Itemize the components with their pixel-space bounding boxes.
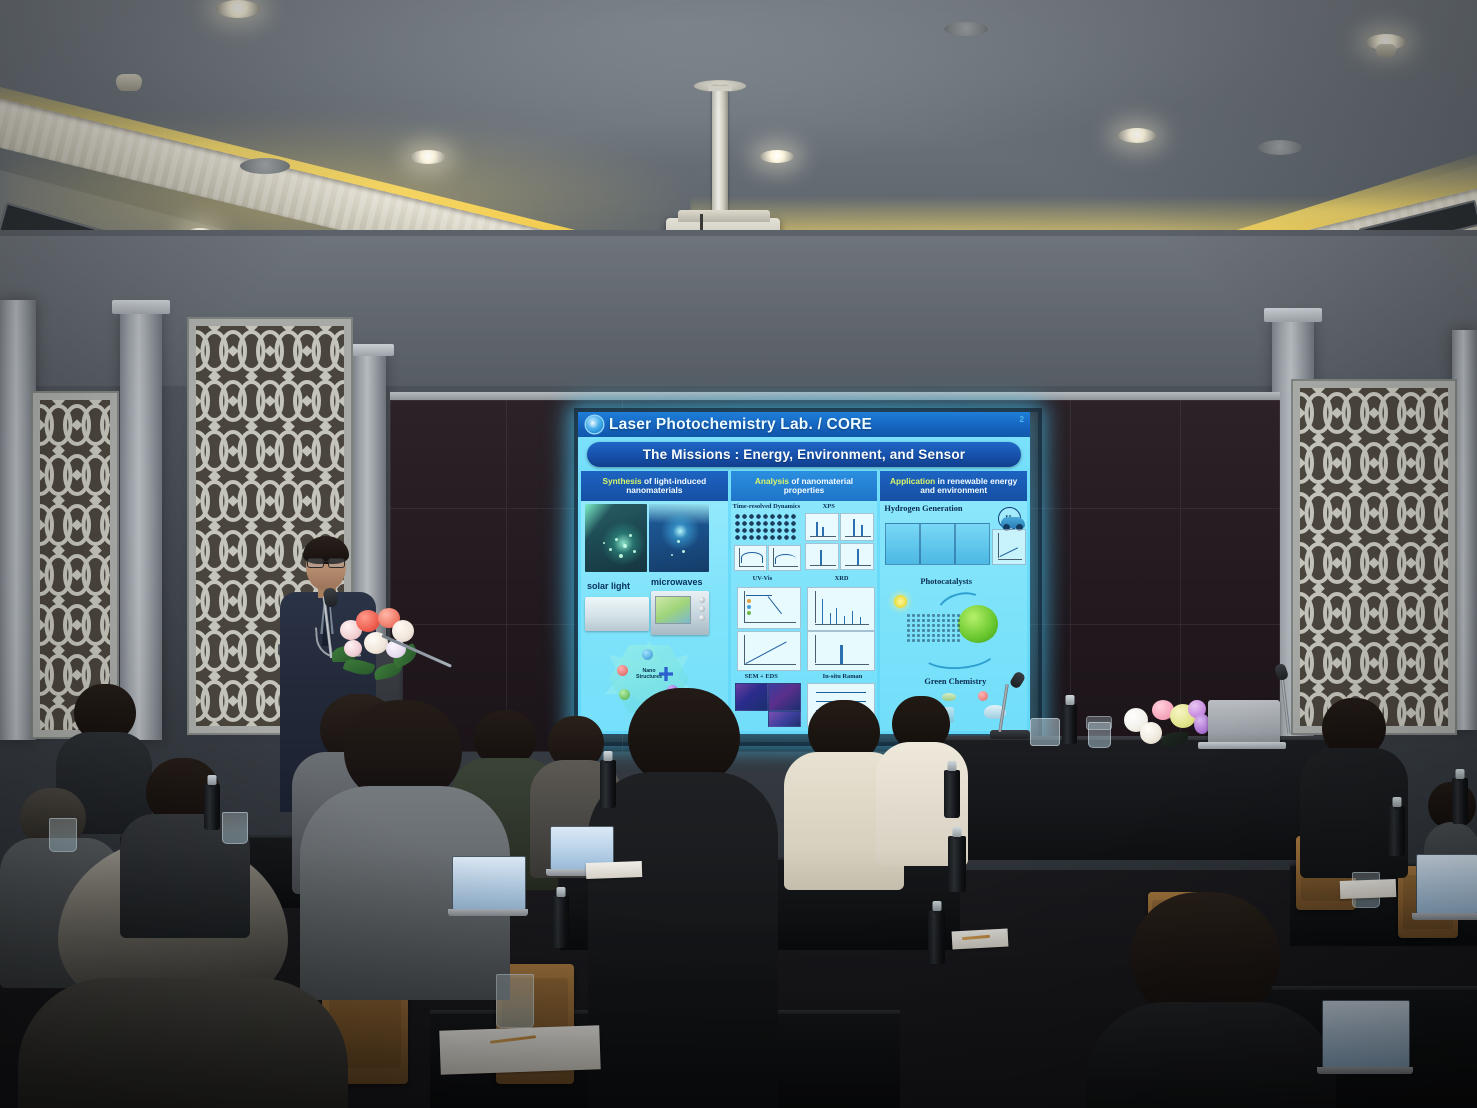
decorative-lattice-panel [1300,388,1448,726]
conference-room-photo: Laser Photochemistry Lab. / CORE 2 The M… [0,0,1477,1108]
water-bottle [600,760,616,808]
pillar-cap [1264,308,1322,322]
ceiling-downlight [410,150,446,164]
wall-pillar [120,310,162,740]
audience-laptop [1416,854,1476,912]
wall-pillar [0,300,36,740]
drinking-glass [1086,716,1112,730]
water-bottle [1062,704,1077,744]
ceiling-downlight [216,0,260,18]
drinking-glass [49,818,77,852]
water-bottle [204,784,220,830]
lattice-pattern-icon [40,400,110,730]
audience-laptop [1322,1000,1408,1066]
sprinkler-head [116,74,142,91]
water-bottle [1388,806,1405,856]
drinking-glass [222,812,248,844]
head-table-laptop-base [1198,742,1286,749]
award-trophy [1030,718,1060,746]
ceiling-downlight [760,150,794,163]
decorative-lattice-panel [40,400,110,730]
ceiling-downlight-off [240,158,290,174]
projector-mount-pole [712,86,728,222]
audience-laptop [452,856,524,908]
water-bottle [928,910,945,964]
notepad [1340,879,1397,899]
head-table [940,740,1340,860]
head-table-laptop [1208,700,1280,746]
podium-flower-arrangement [330,598,432,694]
notepad [952,929,1009,950]
presenter-glasses [307,558,345,566]
drinking-glass [496,974,534,1028]
water-bottle [1452,778,1468,824]
table-mic-base [990,730,1030,739]
notepad [439,1025,600,1075]
water-bottle [948,836,966,892]
audience-member-foreground [120,758,250,938]
ceiling-downlight [1118,128,1156,143]
pillar-cap [112,300,170,314]
water-bottle [944,770,960,818]
lattice-pattern-icon [1300,388,1448,726]
ceiling-downlight-off [1258,140,1302,155]
notepad [586,861,643,879]
ceiling-downlight-off [944,22,988,36]
pillar-cap [344,344,394,356]
water-bottle [552,896,569,948]
sprinkler-head [1376,44,1396,57]
wall-pillar [1452,330,1477,730]
audience-member-foreground [588,688,778,1108]
audience-member-foreground [1086,892,1336,1108]
